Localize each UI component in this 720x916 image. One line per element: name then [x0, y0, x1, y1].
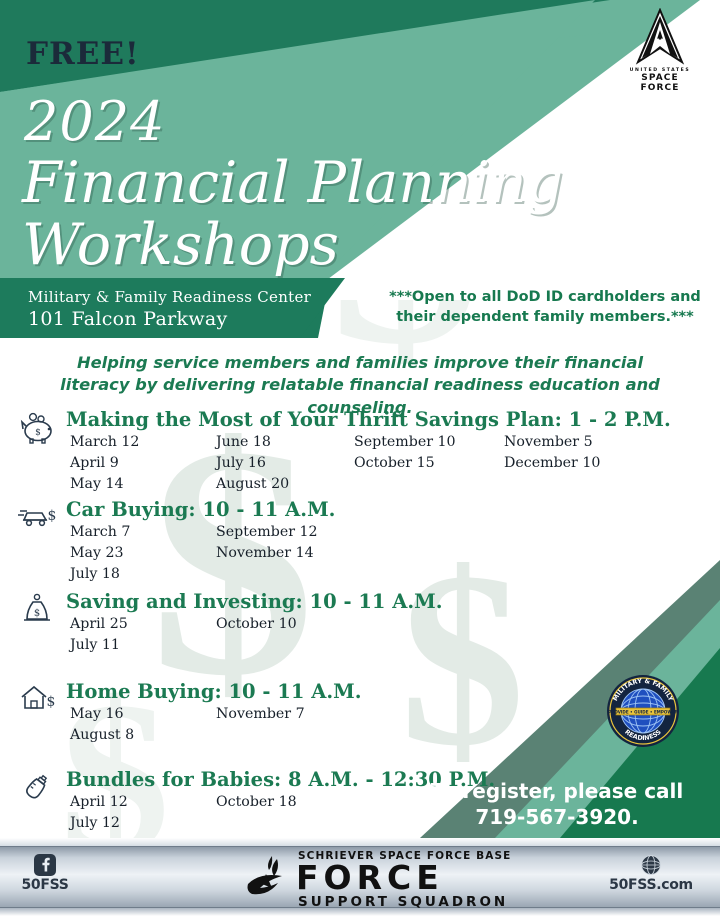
money-bag-icon: $: [18, 592, 60, 630]
workshop-title: Making the Most of Your Thrift Savings P…: [66, 410, 671, 430]
date-column: June 18 July 16 August 20: [216, 432, 289, 494]
date-item: March 12: [70, 432, 139, 453]
car-dollar-icon: $: [18, 500, 60, 538]
fss-flame-swoosh-icon: [244, 854, 290, 902]
date-item: May 14: [70, 474, 139, 495]
fss-force-word: FORCE: [296, 862, 511, 894]
date-item: July 11: [70, 635, 128, 656]
date-column: November 7: [216, 704, 305, 725]
date-item: December 10: [504, 453, 600, 474]
date-column: April 12 July 12: [70, 792, 128, 833]
workshop-title: Saving and Investing: 10 - 11 A.M.: [66, 592, 443, 612]
facebook-link[interactable]: 50FSS: [18, 854, 72, 893]
fss-support-squadron: SUPPORT SQUADRON: [298, 894, 511, 910]
date-item: April 9: [70, 453, 139, 474]
seal-banner-text: PROVIDE • GUIDE • EMPOWER: [608, 709, 678, 714]
date-column: October 10: [216, 614, 297, 635]
date-item: October 15: [354, 453, 456, 474]
svg-text:$: $: [35, 428, 41, 438]
date-column: November 5 December 10: [504, 432, 600, 473]
footer-bar: 50FSS SCHRIEVER SPACE FORCE BASE FORCE S…: [0, 838, 720, 916]
date-item: November 5: [504, 432, 600, 453]
date-item: August 20: [216, 474, 289, 495]
title-line-1: Financial Planning: [22, 150, 563, 216]
eligibility-note: ***Open to all DoD ID cardholders and th…: [380, 288, 710, 327]
date-column: May 16 August 8: [70, 704, 134, 745]
workshop-title: Home Buying: 10 - 11 A.M.: [66, 682, 361, 702]
workshop-section-saving-investing: $ Saving and Investing: 10 - 11 A.M. Apr…: [18, 592, 443, 658]
svg-text:$: $: [34, 608, 40, 619]
website-url[interactable]: 50FSS.com: [596, 877, 706, 893]
facebook-icon[interactable]: [34, 854, 56, 876]
baby-bottle-icon: [18, 770, 60, 808]
date-item: October 10: [216, 614, 297, 635]
date-item: September 12: [216, 522, 318, 543]
date-item: May 16: [70, 704, 134, 725]
date-item: August 8: [70, 725, 134, 746]
military-family-readiness-seal: PROVIDE • GUIDE • EMPOWER MILITARY & FAM…: [606, 674, 680, 748]
home-dollar-icon: $: [18, 682, 60, 720]
date-column: March 12 April 9 May 14: [70, 432, 139, 494]
date-column: March 7 May 23 July 18: [70, 522, 130, 584]
title-line-2: Workshops: [22, 212, 339, 278]
date-item: July 12: [70, 813, 128, 834]
workshop-dates: May 16 August 8 November 7: [70, 704, 361, 748]
date-item: June 18: [216, 432, 289, 453]
workshop-section-thrift-savings-plan: $ Making the Most of Your Thrift Savings…: [18, 410, 671, 494]
year-heading: 2024: [24, 90, 165, 153]
date-item: April 12: [70, 792, 128, 813]
space-force-logo: UNITED STATES SPACE FORCE: [620, 8, 700, 93]
website-link[interactable]: 50FSS.com: [596, 854, 706, 893]
date-item: July 16: [216, 453, 289, 474]
workshop-section-home-buying: $ Home Buying: 10 - 11 A.M. May 16 Augus…: [18, 682, 361, 748]
svg-text:$: $: [48, 508, 57, 524]
svg-text:$: $: [47, 694, 56, 710]
workshop-title: Car Buying: 10 - 11 A.M.: [66, 500, 335, 520]
date-column: September 10 October 15: [354, 432, 456, 473]
date-item: October 18: [216, 792, 297, 813]
date-column: April 25 July 11: [70, 614, 128, 655]
fss-logo: SCHRIEVER SPACE FORCE BASE FORCE SUPPORT…: [248, 850, 511, 910]
free-label: FREE!: [26, 36, 140, 72]
workshop-dates: April 25 July 11 October 10: [70, 614, 443, 658]
space-force-delta-icon: [632, 8, 688, 66]
flyer-page: $ $ $ $ $ $ FREE! 2024 Financial Plannin…: [0, 0, 720, 916]
date-item: March 7: [70, 522, 130, 543]
register-phone-number[interactable]: 719-567-3920.: [412, 804, 702, 830]
workshop-dates: March 12 April 9 May 14 June 18 July 16 …: [70, 432, 671, 494]
workshop-dates: March 7 May 23 July 18 September 12 Nove…: [70, 522, 335, 584]
workshop-section-car-buying: $ Car Buying: 10 - 11 A.M. March 7 May 2…: [18, 500, 335, 584]
date-column: September 12 November 14: [216, 522, 318, 563]
date-column: October 18: [216, 792, 297, 813]
register-line-1: To register, please call: [412, 778, 702, 804]
date-item: November 7: [216, 704, 305, 725]
footer-top-edge: [0, 838, 720, 846]
date-item: July 18: [70, 564, 130, 585]
organization-name: Military & Family Readiness Center: [28, 288, 311, 306]
date-item: May 23: [70, 543, 130, 564]
piggy-bank-icon: $: [18, 410, 60, 448]
date-item: April 25: [70, 614, 128, 635]
address-line: 101 Falcon Parkway: [28, 308, 228, 330]
space-force-name-label: SPACE FORCE: [620, 73, 700, 93]
date-item: September 10: [354, 432, 456, 453]
globe-icon[interactable]: [640, 854, 662, 876]
date-item: November 14: [216, 543, 318, 564]
facebook-handle[interactable]: 50FSS: [18, 877, 72, 893]
register-cta: To register, please call 719-567-3920.: [412, 778, 702, 830]
